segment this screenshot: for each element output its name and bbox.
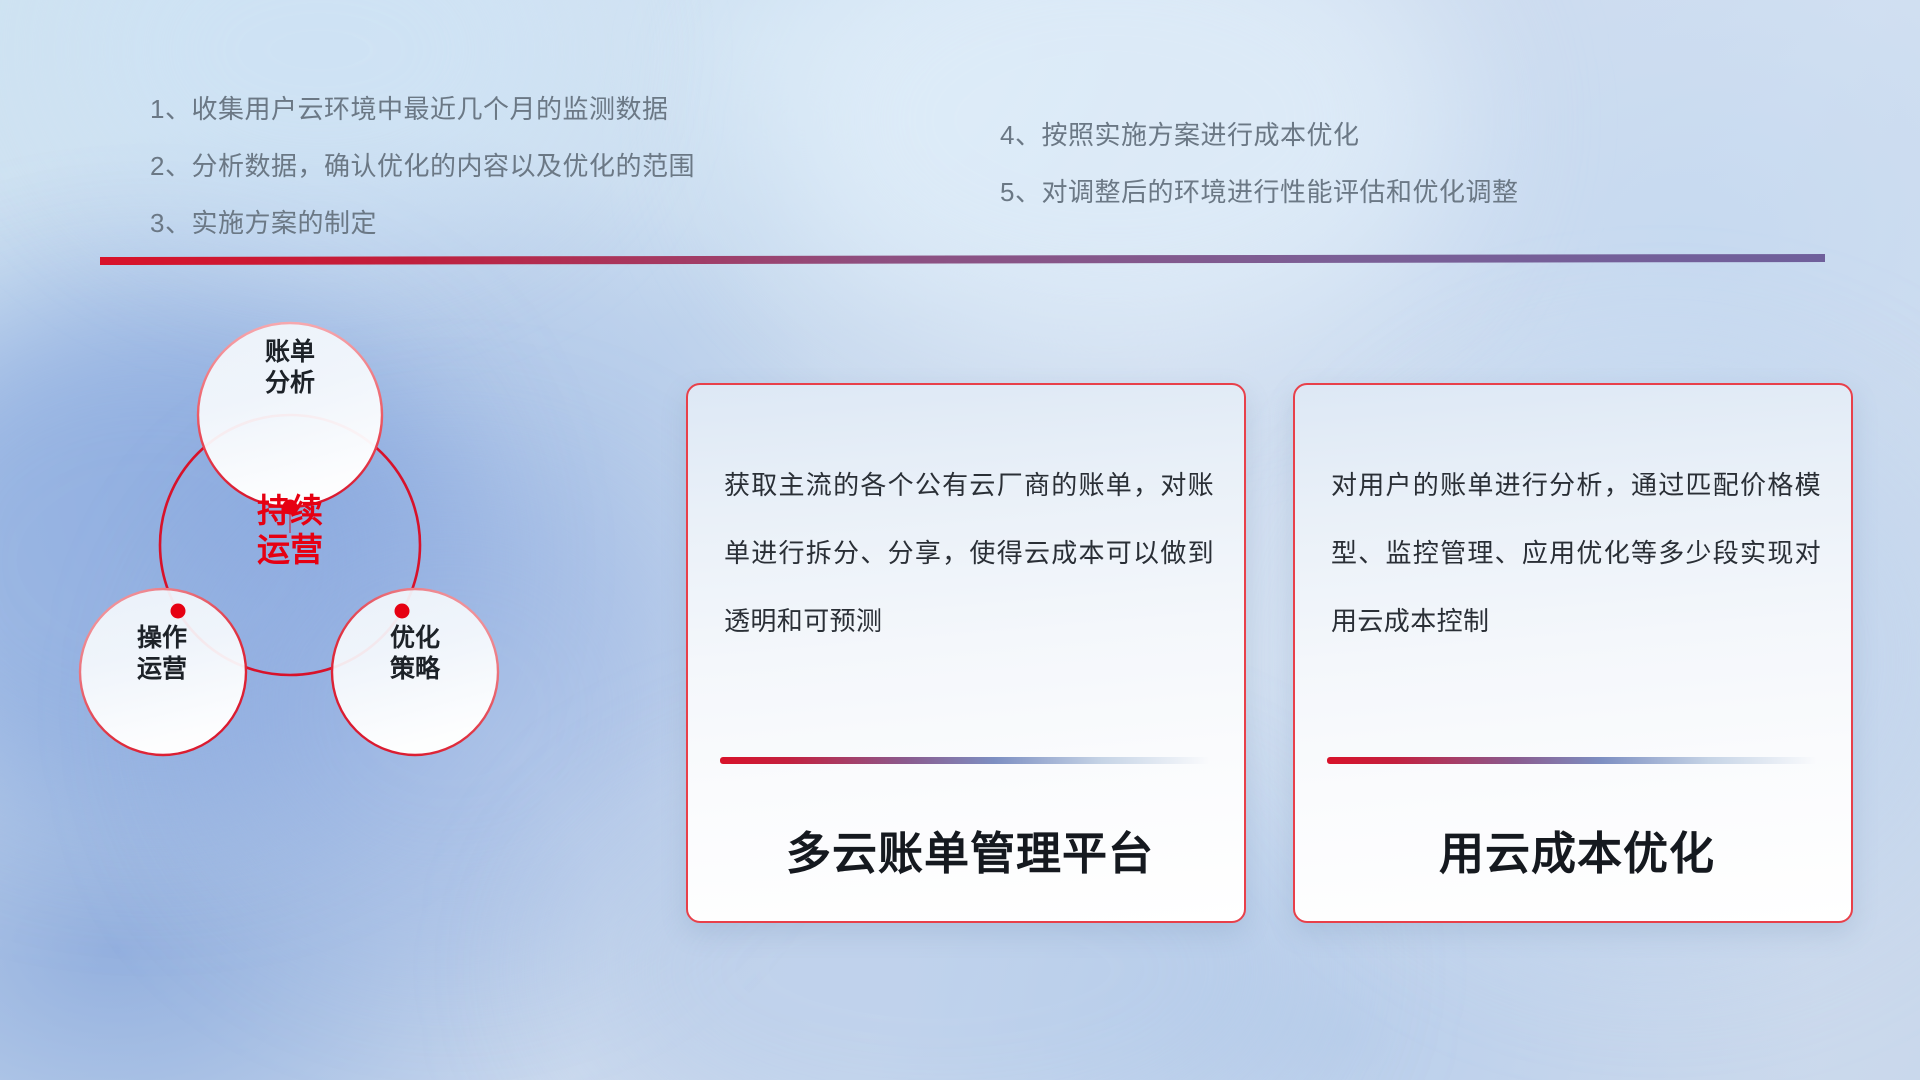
venn-node-dot-right <box>395 604 410 619</box>
card-body-text: 获取主流的各个公有云厂商的账单，对账单进行拆分、分享，使得云成本可以做到透明和可… <box>724 451 1214 655</box>
steps-right-column: 4、按照实施方案进行成本优化 5、对调整后的环境进行性能评估和优化调整 <box>1000 122 1518 236</box>
step-item-2: 2、分析数据，确认优化的内容以及优化的范围 <box>150 153 695 179</box>
venn-bubble-top <box>198 323 382 507</box>
venn-diagram: 账单 分析 操作 运营 优化 策略 持续 运营 <box>75 290 545 790</box>
step-item-4: 4、按照实施方案进行成本优化 <box>1000 122 1518 148</box>
card-accent-rule <box>1327 757 1817 764</box>
venn-node-dot-top <box>283 500 298 515</box>
card-title: 用云成本优化 <box>1327 817 1827 882</box>
card-accent-rule <box>720 757 1210 764</box>
header-divider <box>100 254 1825 266</box>
venn-bubble-left <box>80 589 246 755</box>
slide-canvas: 1、收集用户云环境中最近几个月的监测数据 2、分析数据，确认优化的内容以及优化的… <box>0 0 1920 1080</box>
info-card-cost-optimization[interactable]: 对用户的账单进行分析，通过匹配价格模型、监控管理、应用优化等多少段实现对用云成本… <box>1293 383 1853 923</box>
step-item-3: 3、实施方案的制定 <box>150 210 695 236</box>
card-body-text: 对用户的账单进行分析，通过匹配价格模型、监控管理、应用优化等多少段实现对用云成本… <box>1331 451 1821 655</box>
venn-bubble-right <box>332 589 498 755</box>
info-card-multicloud-billing[interactable]: 获取主流的各个公有云厂商的账单，对账单进行拆分、分享，使得云成本可以做到透明和可… <box>686 383 1246 923</box>
step-item-1: 1、收集用户云环境中最近几个月的监测数据 <box>150 96 695 122</box>
card-title: 多云账单管理平台 <box>720 817 1220 882</box>
step-item-5: 5、对调整后的环境进行性能评估和优化调整 <box>1000 179 1518 205</box>
steps-left-column: 1、收集用户云环境中最近几个月的监测数据 2、分析数据，确认优化的内容以及优化的… <box>150 96 695 267</box>
venn-node-dot-left <box>171 604 186 619</box>
